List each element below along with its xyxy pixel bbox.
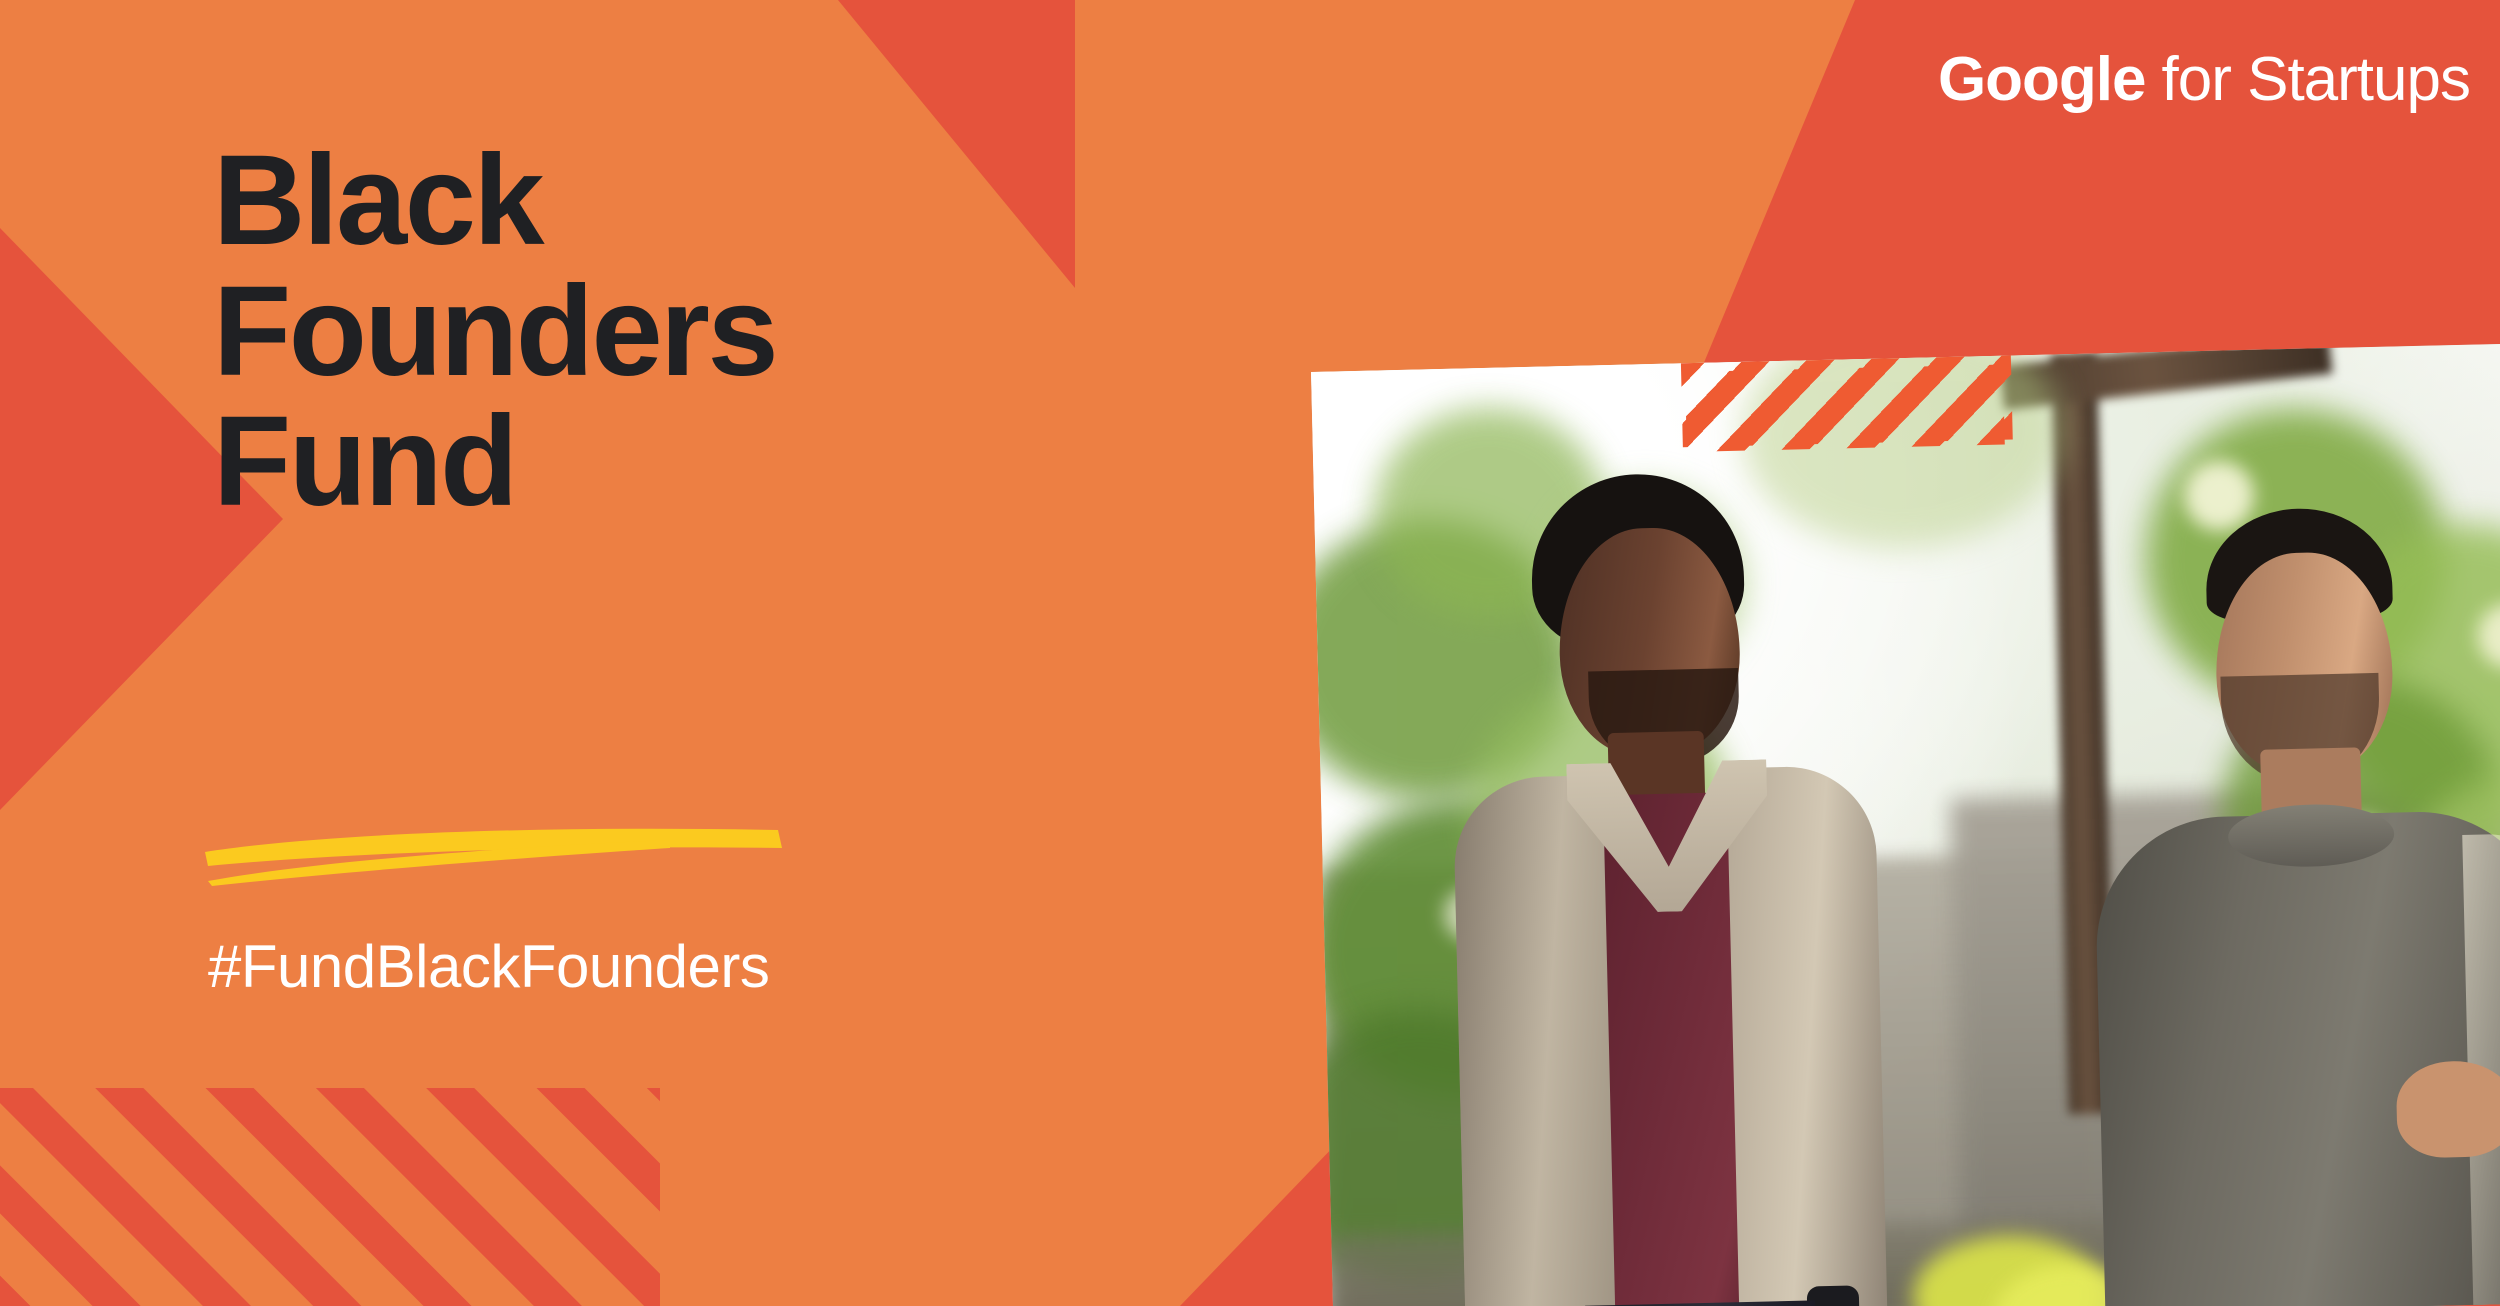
page-title: Black Founders Fund (213, 136, 776, 528)
founder-right-hand (2396, 1060, 2500, 1159)
founder-left-cardigan-panel (1726, 765, 1889, 1306)
black-founders-fund-banner: Black Founders Fund #FundBlackFounders G… (0, 0, 2500, 1306)
logo-for-startups-word: for Startups (2162, 44, 2470, 115)
logo-google-word: Google (1938, 44, 2146, 115)
top-downward-triangle (838, 0, 1075, 288)
photo-image (1311, 343, 2500, 1306)
banner-stripe-band (1685, 365, 2005, 452)
founder-left-cardigan-panel (1453, 775, 1618, 1306)
bottom-left-stripe-block (0, 1060, 700, 1306)
yellow-swoosh-underline (200, 826, 786, 888)
founder-left-figure (1384, 468, 1924, 1306)
founder-right-figure (2045, 503, 2500, 1306)
google-for-startups-logo: Google for Startups (1938, 44, 2470, 115)
founder-right-sweater (2094, 809, 2500, 1306)
founders-photo (1311, 343, 2500, 1306)
bottom-accent-wedge (1180, 1140, 1340, 1306)
hashtag-label: #FundBlackFounders (208, 932, 769, 1001)
